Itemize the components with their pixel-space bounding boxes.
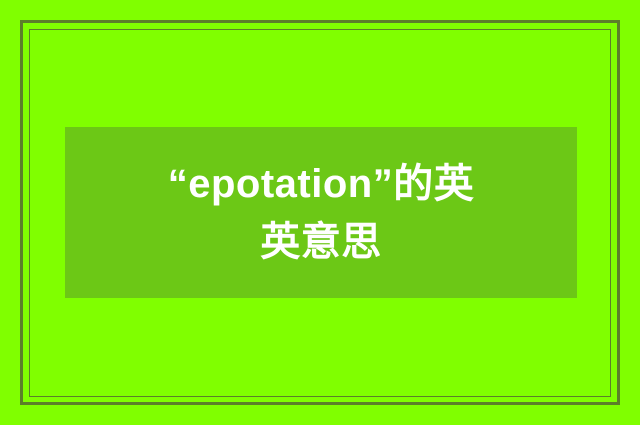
poster-canvas: “epotation”的英英意思 — [0, 0, 640, 425]
title-band: “epotation”的英英意思 — [65, 127, 577, 298]
page-title: “epotation”的英英意思 — [162, 155, 480, 271]
